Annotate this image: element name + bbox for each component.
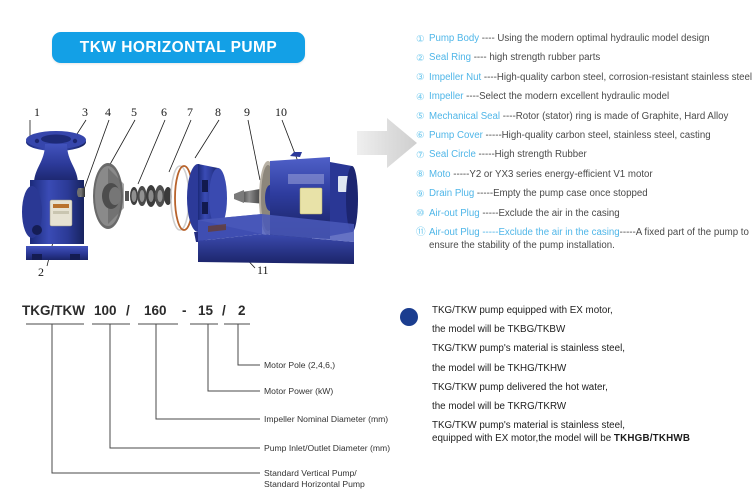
part-row: ⑧ Moto -----Y2 or YX3 series energy-effi… [416, 169, 756, 181]
part-row: ⑪ Air-out Plug -----Exclude the air in t… [416, 227, 756, 253]
leader-label: Motor Pole (2,4,6,) [264, 360, 335, 370]
part-desc: Select the modern excellent hydraulic mo… [479, 91, 669, 102]
callout-5: 5 [131, 105, 137, 119]
part-row: ⑩ Air-out Plug -----Exclude the air in t… [416, 208, 756, 220]
model-code-breakdown: TKG/TKW 100 / 160 - 15 / 2 Motor Pole (2… [14, 300, 404, 496]
mechanical-seal-part [125, 185, 172, 207]
note-model-code: TKHGB/TKHWB [614, 433, 690, 444]
note-line: TKG/TKW pump's material is stainless ste… [432, 421, 756, 431]
part-desc: High-quality carbon steel, corrosion-res… [497, 72, 752, 83]
part-name: Air-out Plug [429, 208, 480, 219]
part-desc: Empty the pump case once stopped [493, 188, 648, 199]
note-line: TKG/TKW pump equipped with EX motor, [432, 306, 756, 316]
callout-4: 4 [105, 105, 111, 119]
callout-9: 9 [244, 105, 250, 119]
impeller-nut-part [77, 188, 85, 197]
part-desc: Using the modern optimal hydraulic model… [497, 33, 709, 44]
part-sep: ----- [474, 188, 493, 199]
part-name: Mechanical Seal [429, 111, 500, 122]
leader-label: Pump Inlet/Outlet Diameter (mm) [264, 443, 390, 453]
note-line: TKG/TKW pump's material is stainless ste… [432, 344, 756, 354]
part-number: ④ [416, 91, 429, 103]
note-prefix: equipped with EX motor,the model will be [432, 433, 614, 444]
part-name: Impeller [429, 91, 463, 102]
part-sep: ---- [479, 33, 497, 44]
part-row: ② Seal Ring ---- high strength rubber pa… [416, 52, 756, 64]
code-segment: / [126, 303, 130, 318]
part-name: Pump Body [429, 33, 479, 44]
part-number: ② [416, 52, 429, 64]
part-number: ⑩ [416, 208, 429, 220]
code-segment: - [182, 303, 187, 318]
part-name: Air-out Plug [429, 227, 480, 238]
part-desc: Rotor (stator) ring is made of Graphite,… [516, 111, 729, 122]
leader-label: Standard Vertical Pump/ [264, 468, 357, 478]
callout-11: 11 [257, 263, 269, 277]
part-desc: high strength rubber parts [489, 52, 600, 63]
part-number: ⑦ [416, 149, 429, 161]
part-number: ⑪ [416, 227, 429, 239]
part-row: ④ Impeller ----Select the modern excelle… [416, 91, 756, 103]
callout-3: 3 [82, 105, 88, 119]
part-number: ① [416, 33, 429, 45]
part-name: Pump Cover [429, 130, 483, 141]
impeller-part [93, 163, 124, 229]
code-segment: 2 [238, 303, 246, 318]
part-sep: ----- [476, 149, 495, 160]
part-number: ⑧ [416, 169, 429, 181]
parts-list: ① Pump Body ---- Using the modern optima… [416, 33, 756, 260]
code-segment: 15 [198, 303, 214, 318]
part-sep: ----- [483, 130, 502, 141]
part-sep2: ----- [620, 227, 636, 238]
part-row: ⑦ Seal Circle -----High strength Rubber [416, 149, 756, 161]
part-desc: Exclude the air in the casing [498, 208, 619, 219]
part-name: Drain Plug [429, 188, 474, 199]
part-row: ① Pump Body ---- Using the modern optima… [416, 33, 756, 45]
part-row: ⑥ Pump Cover -----High-quality carbon st… [416, 130, 756, 142]
bullet-dot-icon [400, 308, 418, 326]
part-number: ⑤ [416, 111, 429, 123]
part-sep: ---- [500, 111, 516, 122]
note-line: TKG/TKW pump delivered the hot water, [432, 383, 756, 393]
part-blue-extra: Exclude the air in the casing [498, 227, 619, 238]
leader-label: Motor Power (kW) [264, 386, 333, 396]
part-sep: ---- [471, 52, 489, 63]
part-name: Impeller Nut [429, 72, 481, 83]
title-banner: TKW HORIZONTAL PUMP [52, 32, 305, 63]
note-line: the model will be TKBG/TKBW [432, 325, 756, 335]
code-segment: / [222, 303, 226, 318]
model-variant-notes: TKG/TKW pump equipped with EX motor, the… [400, 302, 756, 453]
notes-text-group: TKG/TKW pump equipped with EX motor, the… [432, 302, 756, 444]
part-number: ⑥ [416, 130, 429, 142]
leader-label: Impeller Nominal Diameter (mm) [264, 414, 388, 424]
part-name: Seal Circle [429, 149, 476, 160]
part-number: ③ [416, 72, 429, 84]
part-name: Moto [429, 169, 451, 180]
part-name: Seal Ring [429, 52, 471, 63]
title-banner-label: TKW HORIZONTAL PUMP [80, 39, 277, 57]
part-desc: Y2 or YX3 series energy-efficient V1 mot… [469, 169, 652, 180]
part-sep: ----- [451, 169, 470, 180]
part-row: ⑨ Drain Plug -----Empty the pump case on… [416, 188, 756, 200]
callout-1: 1 [34, 105, 40, 119]
note-line: the model will be TKHG/TKHW [432, 364, 756, 374]
code-segment: 100 [94, 303, 117, 318]
right-arrow-icon [357, 112, 419, 174]
part-sep: ----- [480, 208, 499, 219]
callout-7: 7 [187, 105, 193, 119]
callout-8: 8 [215, 105, 221, 119]
callout-10: 10 [275, 105, 287, 119]
part-sep: ---- [481, 72, 497, 83]
part-desc: High-quality carbon steel, stainless ste… [502, 130, 711, 141]
part-desc: High strength Rubber [495, 149, 587, 160]
leader-label-2: Standard Horizontal Pump [264, 479, 365, 489]
note-line: the model will be TKRG/TKRW [432, 402, 756, 412]
part-row: ③ Impeller Nut ----High-quality carbon s… [416, 72, 756, 84]
note-line-final: equipped with EX motor,the model will be… [432, 434, 756, 444]
part-number: ⑨ [416, 188, 429, 200]
exploded-pump-diagram: 1 2 3 4 5 6 7 8 9 10 11 [12, 96, 374, 284]
callout-2: 2 [38, 265, 44, 279]
base-plate-part [198, 214, 354, 264]
part-sep: ----- [480, 227, 499, 238]
part-row: ⑤ Mechanical Seal ----Rotor (stator) rin… [416, 111, 756, 123]
part-sep: ---- [463, 91, 479, 102]
callout-6: 6 [161, 105, 167, 119]
code-segment: TKG/TKW [22, 303, 85, 318]
code-segment: 160 [144, 303, 167, 318]
